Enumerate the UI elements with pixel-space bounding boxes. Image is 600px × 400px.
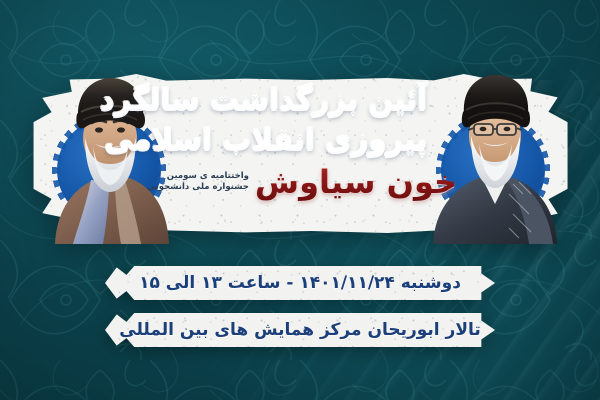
portrait-khamenei-icon xyxy=(417,72,569,244)
headline-third-row: خون سیاوش واختتامیه ی سومین جشنواره ملی … xyxy=(177,163,427,201)
headline-highlight: خون سیاوش xyxy=(255,163,457,201)
date-time-ribbon: دوشنبه ۱۴۰۱/۱۱/۲۴ - ساعت ۱۳ الی ۱۵ xyxy=(105,266,495,300)
headline-subtitle-line-2: جشنواره ملی دانشجویی xyxy=(147,182,249,194)
headline-subtitle-line-1: واختتامیه ی سومین xyxy=(147,171,249,183)
date-time-text: دوشنبه ۱۴۰۱/۱۱/۲۴ - ساعت ۱۳ الی ۱۵ xyxy=(139,273,461,293)
venue-ribbon: تالار ابوریحان مرکز همایش های بین المللی xyxy=(105,313,495,347)
headline-block: آئین بزرگداشت سالگرد پیروزی انقلاب اسلام… xyxy=(177,78,427,234)
main-banner: آئین بزرگداشت سالگرد پیروزی انقلاب اسلام… xyxy=(27,72,573,239)
event-poster: آئین بزرگداشت سالگرد پیروزی انقلاب اسلام… xyxy=(0,0,600,400)
portrait-right xyxy=(417,72,569,244)
headline-line-2: پیروزی انقلاب اسلامی xyxy=(177,120,427,158)
headline-line-1: آئین بزرگداشت سالگرد xyxy=(177,80,427,118)
venue-text: تالار ابوریحان مرکز همایش های بین المللی xyxy=(119,320,481,340)
headline-subtitle: واختتامیه ی سومین جشنواره ملی دانشجویی xyxy=(147,171,249,194)
